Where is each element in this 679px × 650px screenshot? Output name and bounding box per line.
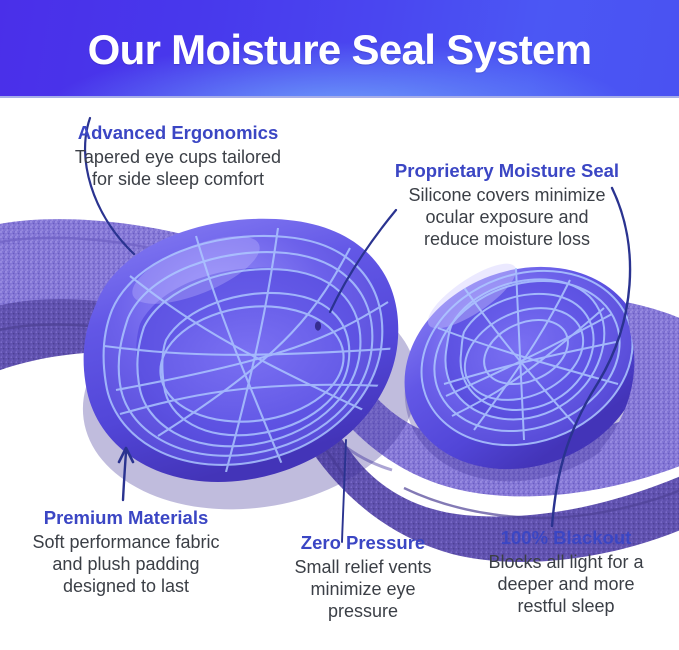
callout-title-ergonomics: Advanced Ergonomics [28,122,328,144]
callout-title-zero: Zero Pressure [258,532,468,554]
callout-title-premium: Premium Materials [2,507,250,529]
callout-body-ergonomics: Tapered eye cups tailored for side sleep… [28,146,328,191]
callout-body-moisture: Silicone covers minimize ocular exposure… [362,184,652,251]
callout-body-zero: Small relief vents minimize eye pressure [258,556,468,623]
callout-100-percent-blackout: 100% Blackout Blocks all light for a dee… [452,527,679,618]
page-title: Our Moisture Seal System [0,0,679,96]
callout-body-blackout: Blocks all light for a deeper and more r… [452,551,679,618]
callout-title-moisture: Proprietary Moisture Seal [362,160,652,182]
callout-premium-materials: Premium Materials Soft performance fabri… [2,507,250,598]
callout-proprietary-moisture-seal: Proprietary Moisture Seal Silicone cover… [362,160,652,251]
callout-zero-pressure: Zero Pressure Small relief vents minimiz… [258,532,468,623]
header-banner: Our Moisture Seal System [0,0,679,96]
relief-vent [315,321,321,330]
callout-title-blackout: 100% Blackout [452,527,679,549]
infographic-root: Our Moisture Seal System [0,0,679,650]
callout-advanced-ergonomics: Advanced Ergonomics Tapered eye cups tai… [28,122,328,190]
callout-body-premium: Soft performance fabric and plush paddin… [2,531,250,598]
